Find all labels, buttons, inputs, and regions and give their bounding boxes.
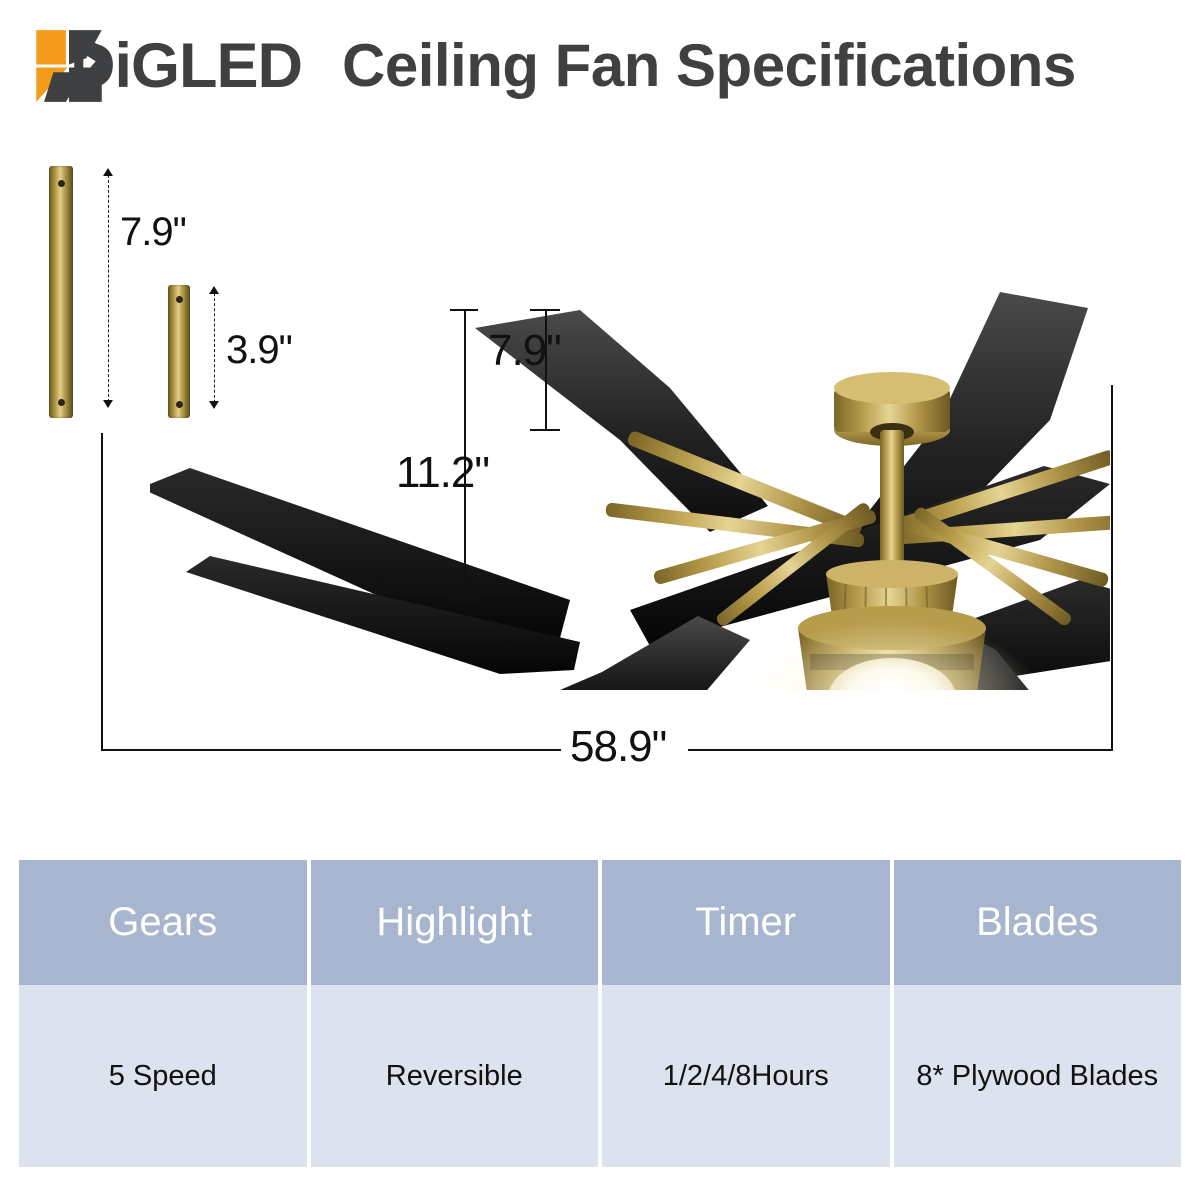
- column-header-highlight: Highlight: [311, 860, 599, 985]
- rod-hole: [58, 180, 65, 187]
- overall-drop-dimension-label: 11.2": [396, 448, 489, 498]
- cell-highlight: Reversible: [311, 985, 599, 1167]
- canopy-height-dimension-label: 7.9": [488, 326, 561, 376]
- product-illustration: 7.9" 3.9": [0, 130, 1200, 840]
- dimension-tick: [450, 599, 478, 601]
- cell-blades: 8* Plywood Blades: [894, 985, 1182, 1167]
- logo-wordmark: DiGLED: [70, 33, 302, 99]
- blade-span-dimension-label: 58.9": [570, 722, 666, 772]
- column-header-timer: Timer: [602, 860, 890, 985]
- dimension-arrow-down: [103, 400, 113, 408]
- page-title: Ceiling Fan Specifications: [342, 33, 1076, 99]
- long-downrod-image: [49, 166, 73, 418]
- motor-top: [826, 560, 958, 588]
- specifications-table: Gears Highlight Timer Blades 5 Speed Rev…: [15, 860, 1185, 1167]
- column-header-blades: Blades: [894, 860, 1182, 985]
- cell-gears: 5 Speed: [19, 985, 307, 1167]
- ceiling-fan-image: [150, 270, 1110, 690]
- dimension-tick: [530, 429, 560, 431]
- cell-timer: 1/2/4/8Hours: [602, 985, 890, 1167]
- table-header-row: Gears Highlight Timer Blades: [19, 860, 1181, 985]
- long-downrod-dimension-line: [108, 175, 109, 407]
- fan-downrod: [880, 430, 904, 578]
- width-bracket-right-edge: [1111, 385, 1113, 750]
- dimension-arrow-up: [103, 168, 113, 176]
- canopy-top: [834, 372, 950, 404]
- page-header: DiGLED Ceiling Fan Specifications: [0, 0, 1200, 130]
- long-downrod-dimension-label: 7.9": [120, 210, 186, 255]
- width-bracket-line-right: [688, 749, 1113, 751]
- table-row: 5 Speed Reversible 1/2/4/8Hours 8* Plywo…: [19, 985, 1181, 1167]
- column-header-gears: Gears: [19, 860, 307, 985]
- rod-hole: [58, 399, 65, 406]
- width-bracket-line-left: [101, 749, 561, 751]
- width-bracket-left-edge: [101, 433, 103, 750]
